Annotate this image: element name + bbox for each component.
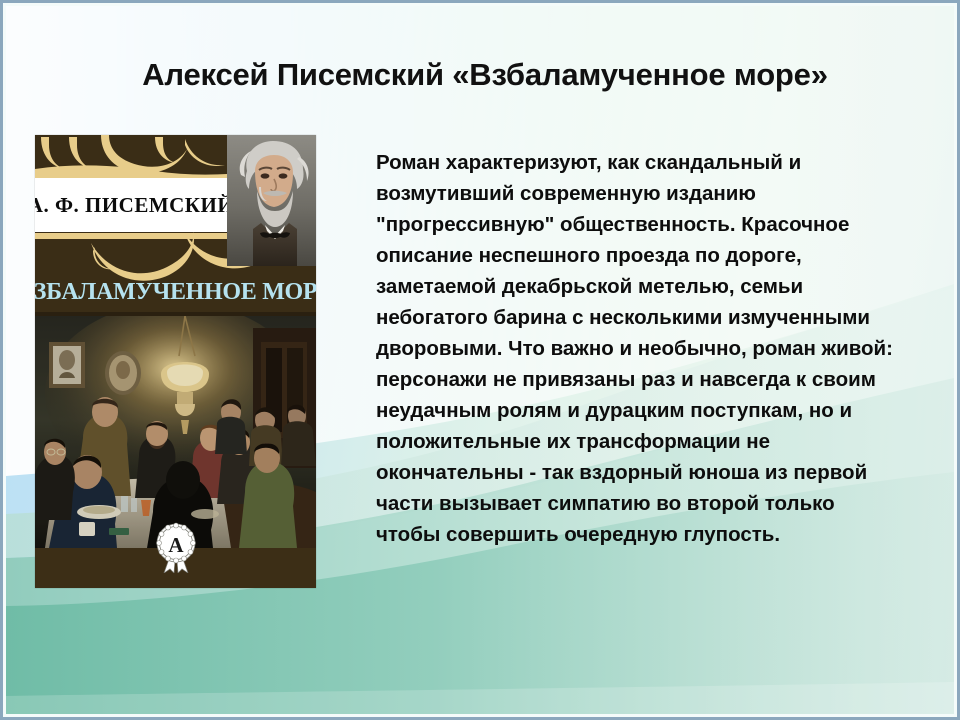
cover-author-band: А. Ф. ПИСЕМСКИЙ [35, 178, 227, 232]
author-portrait-svg [227, 135, 316, 266]
body-paragraph: Роман характеризуют, как скандальный и в… [376, 147, 896, 550]
slide: Алексей Писемский «Взбаламученное море» … [0, 0, 960, 720]
cover-author-name: А. Ф. ПИСЕМСКИЙ [35, 193, 234, 218]
author-portrait [227, 135, 316, 266]
cover-title-band: ВЗБАЛАМУЧЕННОЕ МОРЕ [35, 268, 316, 316]
book-cover-image: А. Ф. ПИСЕМСКИЙ [35, 135, 316, 588]
cover-painting-svg [35, 316, 316, 548]
publisher-emblem-icon: А [154, 521, 198, 573]
publisher-emblem-letter: А [168, 533, 184, 557]
cover-book-title: ВЗБАЛАМУЧЕННОЕ МОРЕ [35, 279, 316, 306]
publisher-emblem-svg: А [154, 521, 198, 573]
cover-painting [35, 316, 316, 548]
page-title: Алексей Писемский «Взбаламученное море» [60, 57, 910, 93]
